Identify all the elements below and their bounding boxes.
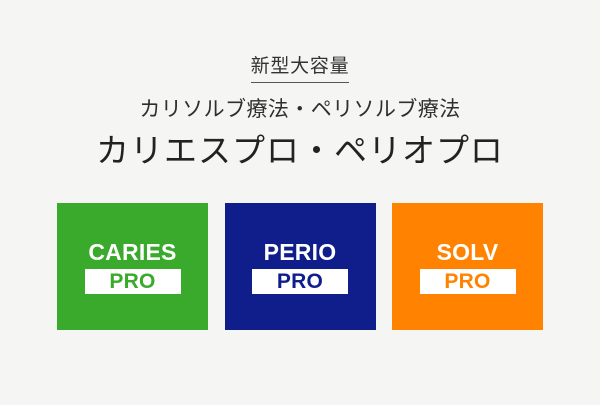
heading-group: 新型大容量 カリソルブ療法・ペリソルブ療法 カリエスプロ・ペリオプロ: [0, 54, 600, 174]
product-banner-caries: PRO: [85, 269, 181, 294]
product-name-solv: SOLV: [437, 240, 499, 265]
product-tile-solv[interactable]: SOLV PRO: [392, 203, 543, 330]
eyebrow-wrapper: 新型大容量: [0, 54, 600, 83]
product-banner-solv: PRO: [420, 269, 516, 294]
page-title: カリエスプロ・ペリオプロ: [0, 130, 600, 174]
subtitle-text: カリソルブ療法・ペリソルブ療法: [0, 94, 600, 124]
product-tile-list: CARIES PRO PERIO PRO SOLV PRO: [57, 203, 543, 330]
product-name-perio: PERIO: [264, 240, 337, 265]
product-tile-caries[interactable]: CARIES PRO: [57, 203, 208, 330]
product-tile-perio[interactable]: PERIO PRO: [225, 203, 376, 330]
product-banner: 新型大容量 カリソルブ療法・ペリソルブ療法 カリエスプロ・ペリオプロ CARIE…: [0, 0, 600, 405]
product-name-caries: CARIES: [88, 240, 176, 265]
product-banner-perio: PRO: [252, 269, 348, 294]
product-suffix-perio: PRO: [277, 271, 323, 292]
product-suffix-solv: PRO: [444, 271, 490, 292]
eyebrow-label: 新型大容量: [251, 54, 350, 83]
product-suffix-caries: PRO: [109, 271, 155, 292]
